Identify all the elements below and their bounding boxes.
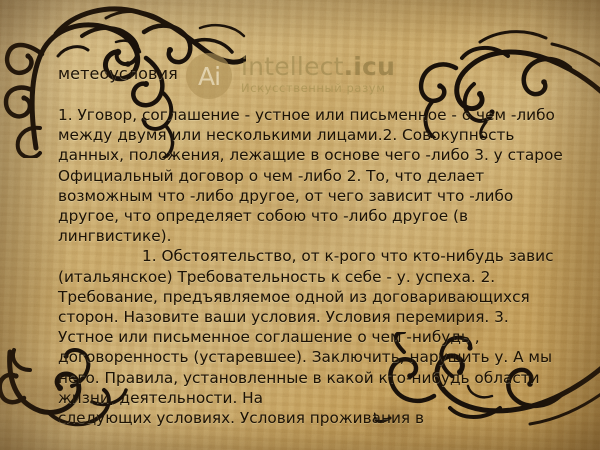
watermark-name-light: intellect bbox=[241, 52, 344, 81]
watermark-text: intellect.icu Искусственный разум bbox=[241, 52, 395, 95]
definition-paragraph-2: 1. Обстоятельство, от к-рого что кто-ниб… bbox=[58, 246, 568, 408]
watermark-name-bold: .icu bbox=[344, 52, 395, 81]
definition-body: 1. Уговор, соглашение - устное или письм… bbox=[58, 105, 568, 428]
slide-canvas: Ai intellect.icu Искусственный разум мет… bbox=[0, 0, 600, 450]
watermark-intellect-icu: Ai intellect.icu Искусственный разум bbox=[186, 52, 395, 99]
watermark-badge-icon: Ai bbox=[186, 53, 232, 99]
watermark-badge-label: Ai bbox=[198, 64, 220, 89]
definition-paragraph-3: следующих условиях. Условия проживания в bbox=[58, 408, 568, 428]
definition-paragraph-1: 1. Уговор, соглашение - устное или письм… bbox=[58, 105, 568, 246]
page-title: метеоусловия bbox=[58, 64, 178, 83]
watermark-subtitle: Искусственный разум bbox=[241, 81, 395, 95]
watermark-site-name: intellect.icu bbox=[241, 54, 395, 80]
